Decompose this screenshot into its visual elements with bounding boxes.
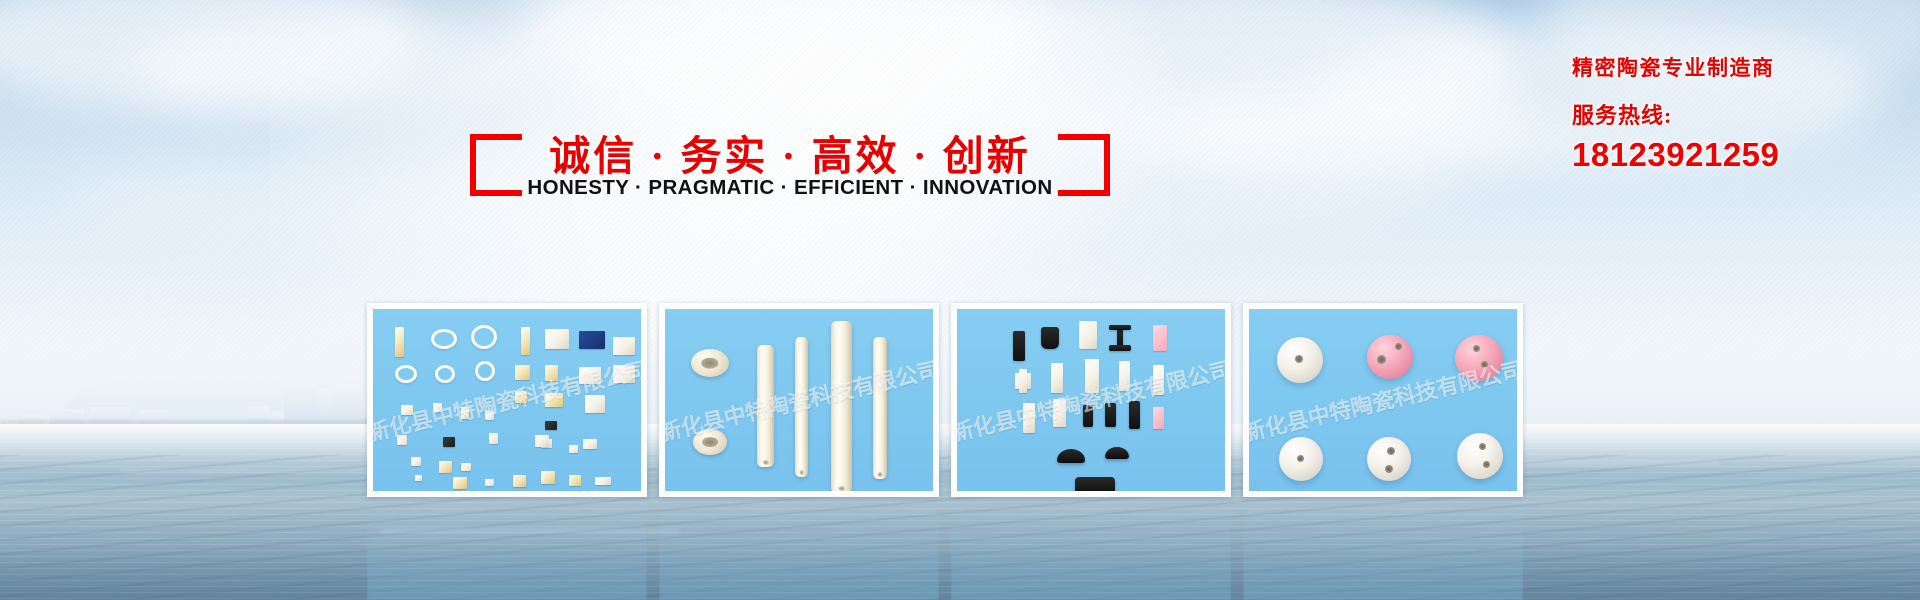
- product-panel-2-image: 新化县中特陶瓷科技有限公司: [665, 309, 933, 491]
- contact-block: 精密陶瓷专业制造商 服务热线: 18123921259: [1572, 52, 1902, 174]
- product-panel-3-image: 新化县中特陶瓷科技有限公司: [957, 309, 1225, 491]
- product-panel-1[interactable]: 新化县中特陶瓷科技有限公司: [367, 303, 647, 497]
- slogan-chinese: 诚信 · 务实 · 高效 · 创新: [470, 122, 1110, 182]
- company-tagline: 精密陶瓷专业制造商: [1572, 52, 1902, 82]
- panel-reflection: [367, 503, 647, 600]
- hotline-number[interactable]: 18123921259: [1572, 136, 1902, 174]
- product-panel-row: 新化县中特陶瓷科技有限公司 新化县中特陶瓷科技有限公司: [367, 303, 1560, 497]
- panel-reflection-row: [367, 503, 1560, 600]
- panel-reflection: [1243, 503, 1523, 600]
- panel-reflection: [659, 503, 939, 600]
- product-panel-4-image: 新化县中特陶瓷科技有限公司: [1249, 309, 1517, 491]
- hotline-label: 服务热线:: [1572, 98, 1902, 130]
- product-panel-2[interactable]: 新化县中特陶瓷科技有限公司: [659, 303, 939, 497]
- product-panel-1-image: 新化县中特陶瓷科技有限公司: [373, 309, 641, 491]
- water-streak: [120, 470, 380, 472]
- product-panel-3[interactable]: 新化县中特陶瓷科技有限公司: [951, 303, 1231, 497]
- panel-reflection: [951, 503, 1231, 600]
- slogan-english: HONESTY · PRAGMATIC · EFFICIENT · INNOVA…: [470, 176, 1110, 200]
- product-panel-4[interactable]: 新化县中特陶瓷科技有限公司: [1243, 303, 1523, 497]
- hero-banner: 诚信 · 务实 · 高效 · 创新 HONESTY · PRAGMATIC · …: [0, 0, 1920, 600]
- slogan-block: 诚信 · 务实 · 高效 · 创新 HONESTY · PRAGMATIC · …: [470, 96, 1110, 246]
